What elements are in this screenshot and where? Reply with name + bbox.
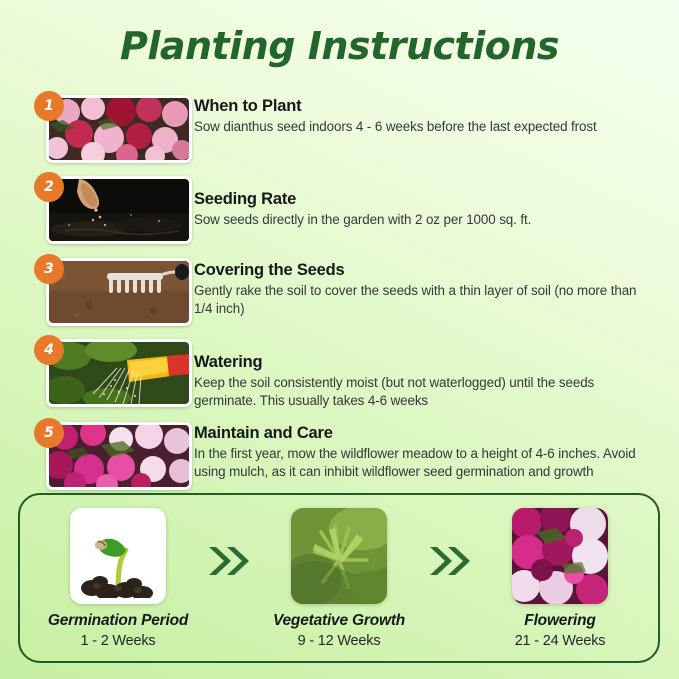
step-text: Maintain and Care In the first year, mow…: [194, 422, 654, 480]
step-description: In the first year, mow the wildflower me…: [194, 445, 654, 480]
growth-timeline: Germination Period 1 - 2 Weeks: [18, 493, 660, 663]
step-thumbnail-wrap: 5: [34, 422, 180, 490]
steps-list: 1: [34, 95, 654, 490]
timeline-stage-weeks: 1 - 2 Weeks: [34, 633, 202, 649]
step-thumbnail-wrap: 2: [34, 176, 180, 244]
step-description: Gently rake the soil to cover the seeds …: [194, 282, 654, 317]
step-text: Covering the Seeds Gently rake the soil …: [194, 258, 654, 317]
step-title: Covering the Seeds: [194, 261, 654, 280]
step-number-badge: 2: [34, 172, 64, 202]
dianthus-flowers-pink-red-image: [46, 95, 192, 163]
step-thumbnail-wrap: 1: [34, 95, 180, 163]
step-number-badge: 3: [34, 254, 64, 284]
green-leafy-plant-foliage-image: [291, 508, 387, 604]
dianthus-flowers-magenta-image: [46, 422, 192, 490]
step-item: 2: [34, 176, 654, 244]
step-title: Watering: [194, 353, 654, 372]
step-title: When to Plant: [194, 97, 654, 116]
timeline-stage-name: Vegetative Growth: [255, 612, 423, 630]
double-chevron-right-icon: [424, 544, 476, 612]
step-item: 4: [34, 339, 654, 409]
step-title: Maintain and Care: [194, 424, 654, 443]
rake-on-brown-soil-image: [46, 258, 192, 326]
timeline-stage: Germination Period 1 - 2 Weeks: [34, 508, 202, 649]
double-chevron-right-icon: [203, 544, 255, 612]
step-text: When to Plant Sow dianthus seed indoors …: [194, 95, 654, 136]
magenta-white-dianthus-blooms-image: [512, 508, 608, 604]
step-text: Seeding Rate Sow seeds directly in the g…: [194, 176, 654, 229]
timeline-stage: Vegetative Growth 9 - 12 Weeks: [255, 508, 423, 649]
step-description: Sow seeds directly in the garden with 2 …: [194, 211, 654, 229]
seedling-sprout-in-soil-image: [70, 508, 166, 604]
step-number-badge: 4: [34, 335, 64, 365]
step-text: Watering Keep the soil consistently mois…: [194, 339, 654, 409]
page-title: Planting Instructions: [0, 24, 679, 68]
hand-sowing-seeds-dark-soil-image: [46, 176, 192, 244]
timeline-stage-name: Flowering: [476, 612, 644, 630]
timeline-stage: Flowering 21 - 24 Weeks: [476, 508, 644, 649]
watering-can-spout-water-image: [46, 339, 192, 407]
timeline-stage-name: Germination Period: [34, 612, 202, 630]
step-thumbnail-wrap: 4: [34, 339, 180, 407]
step-item: 1: [34, 95, 654, 163]
planting-instructions-infographic: Planting Instructions 1: [0, 0, 679, 679]
step-item: 3: [34, 258, 654, 326]
step-thumbnail-wrap: 3: [34, 258, 180, 326]
step-title: Seeding Rate: [194, 190, 654, 209]
timeline-stage-weeks: 9 - 12 Weeks: [255, 633, 423, 649]
step-description: Keep the soil consistently moist (but no…: [194, 374, 654, 409]
step-item: 5: [34, 422, 654, 490]
step-description: Sow dianthus seed indoors 4 - 6 weeks be…: [194, 118, 654, 136]
step-number-badge: 1: [34, 91, 64, 121]
timeline-stage-weeks: 21 - 24 Weeks: [476, 633, 644, 649]
